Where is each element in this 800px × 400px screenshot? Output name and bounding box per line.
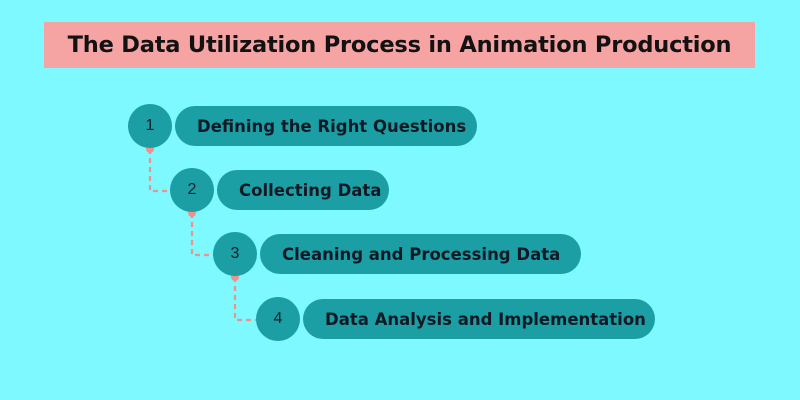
step-3-number: 3: [231, 245, 240, 263]
flow-step-2[interactable]: Collecting Data 2: [170, 168, 389, 212]
step-1-number: 1: [146, 117, 155, 135]
step-2-label: Collecting Data: [217, 181, 381, 200]
step-4-circle[interactable]: 4: [256, 297, 300, 341]
step-2-pill[interactable]: Collecting Data: [217, 170, 389, 210]
title-banner: The Data Utilization Process in Animatio…: [44, 22, 755, 68]
infographic-canvas: The Data Utilization Process in Animatio…: [0, 0, 800, 400]
step-4-pill[interactable]: Data Analysis and Implementation: [303, 299, 655, 339]
step-1-pill[interactable]: Defining the Right Questions: [175, 106, 477, 146]
step-4-label: Data Analysis and Implementation: [303, 310, 646, 329]
step-2-circle[interactable]: 2: [170, 168, 214, 212]
step-1-label: Defining the Right Questions: [175, 117, 466, 136]
flow-step-3[interactable]: Cleaning and Processing Data 3: [213, 232, 581, 276]
step-2-number: 2: [188, 181, 197, 199]
step-3-pill[interactable]: Cleaning and Processing Data: [260, 234, 581, 274]
step-1-circle[interactable]: 1: [128, 104, 172, 148]
step-3-circle[interactable]: 3: [213, 232, 257, 276]
step-3-label: Cleaning and Processing Data: [260, 245, 560, 264]
page-title: The Data Utilization Process in Animatio…: [68, 32, 732, 58]
flow-step-4[interactable]: Data Analysis and Implementation 4: [256, 297, 655, 341]
step-4-number: 4: [274, 310, 283, 328]
